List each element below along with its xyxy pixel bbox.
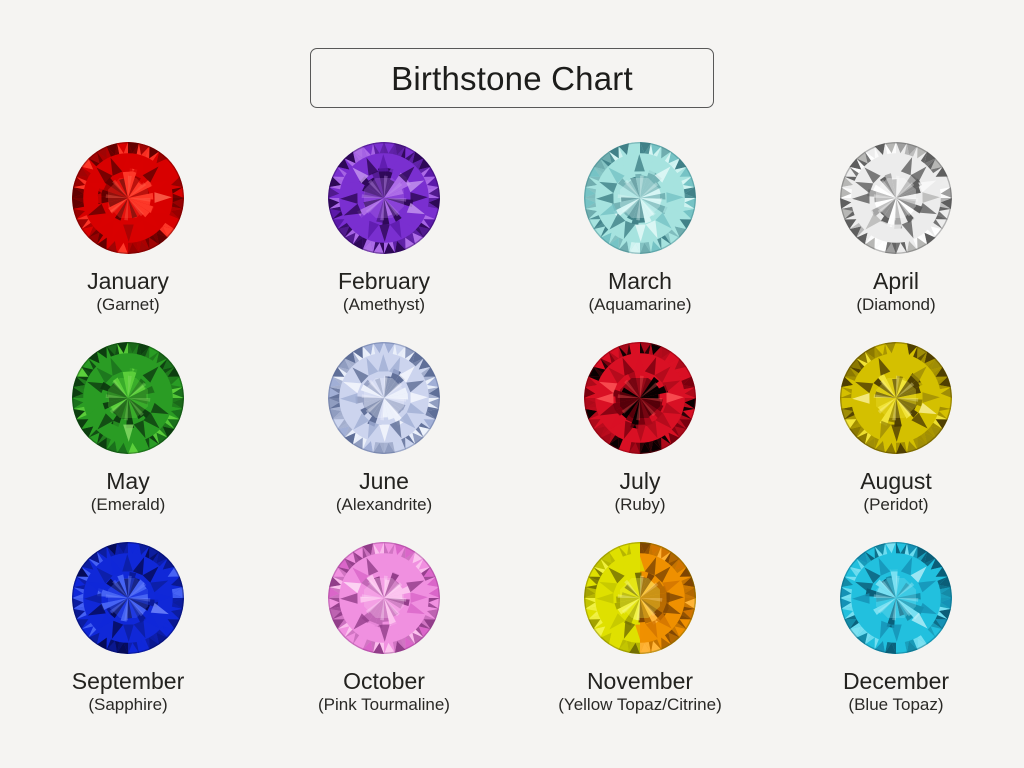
birthstone-cell-june[interactable]: June(Alexandrite) bbox=[256, 340, 512, 540]
stone-name-label: (Yellow Topaz/Citrine) bbox=[558, 696, 721, 714]
birthstone-cell-march[interactable]: March(Aquamarine) bbox=[512, 140, 768, 340]
page-title: Birthstone Chart bbox=[391, 62, 633, 95]
birthstone-cell-december[interactable]: December(Blue Topaz) bbox=[768, 540, 1024, 740]
gem-emerald-icon bbox=[70, 340, 186, 456]
stone-name-label: (Diamond) bbox=[856, 296, 935, 314]
month-label: August bbox=[860, 469, 932, 493]
stone-name-label: (Garnet) bbox=[96, 296, 159, 314]
stone-name-label: (Emerald) bbox=[91, 496, 166, 514]
month-label: January bbox=[87, 269, 169, 293]
birthstone-cell-may[interactable]: May(Emerald) bbox=[0, 340, 256, 540]
gem-blue-topaz-icon bbox=[838, 540, 954, 656]
birthstone-cell-november[interactable]: November(Yellow Topaz/Citrine) bbox=[512, 540, 768, 740]
page-title-box: Birthstone Chart bbox=[310, 48, 714, 108]
month-label: June bbox=[359, 469, 409, 493]
birthstone-cell-august[interactable]: August(Peridot) bbox=[768, 340, 1024, 540]
birthstone-cell-january[interactable]: January(Garnet) bbox=[0, 140, 256, 340]
birthstone-cell-april[interactable]: April(Diamond) bbox=[768, 140, 1024, 340]
stone-name-label: (Aquamarine) bbox=[589, 296, 692, 314]
month-label: December bbox=[843, 669, 949, 693]
month-label: April bbox=[873, 269, 919, 293]
month-label: March bbox=[608, 269, 672, 293]
month-label: November bbox=[587, 669, 693, 693]
gem-ruby-icon bbox=[582, 340, 698, 456]
stone-name-label: (Pink Tourmaline) bbox=[318, 696, 450, 714]
stone-name-label: (Amethyst) bbox=[343, 296, 425, 314]
gem-aquamarine-icon bbox=[582, 140, 698, 256]
stone-name-label: (Alexandrite) bbox=[336, 496, 432, 514]
gem-diamond-icon bbox=[838, 140, 954, 256]
gem-yellow-topaz-citrine-icon bbox=[582, 540, 698, 656]
gem-alexandrite-icon bbox=[326, 340, 442, 456]
stone-name-label: (Sapphire) bbox=[88, 696, 167, 714]
month-label: May bbox=[106, 469, 149, 493]
gem-garnet-icon bbox=[70, 140, 186, 256]
gem-peridot-icon bbox=[838, 340, 954, 456]
month-label: February bbox=[338, 269, 430, 293]
month-label: September bbox=[72, 669, 185, 693]
birthstone-cell-october[interactable]: October(Pink Tourmaline) bbox=[256, 540, 512, 740]
birthstone-cell-september[interactable]: September(Sapphire) bbox=[0, 540, 256, 740]
stone-name-label: (Ruby) bbox=[614, 496, 665, 514]
birthstone-grid: January(Garnet)February(Amethyst)March(A… bbox=[0, 140, 1024, 740]
birthstone-chart-page: Birthstone Chart January(Garnet)February… bbox=[0, 0, 1024, 768]
month-label: October bbox=[343, 669, 425, 693]
gem-pink-tourmaline-icon bbox=[326, 540, 442, 656]
stone-name-label: (Peridot) bbox=[863, 496, 928, 514]
gem-sapphire-icon bbox=[70, 540, 186, 656]
birthstone-cell-february[interactable]: February(Amethyst) bbox=[256, 140, 512, 340]
month-label: July bbox=[620, 469, 661, 493]
gem-amethyst-icon bbox=[326, 140, 442, 256]
stone-name-label: (Blue Topaz) bbox=[848, 696, 943, 714]
birthstone-cell-july[interactable]: July(Ruby) bbox=[512, 340, 768, 540]
